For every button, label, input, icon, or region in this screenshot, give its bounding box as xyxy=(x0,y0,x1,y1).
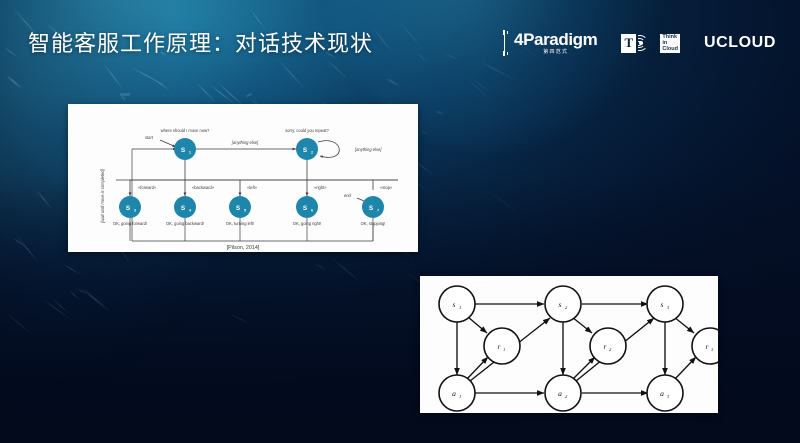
fsm-node-label-s2: S xyxy=(303,147,308,154)
tic-line-3: Cloud xyxy=(662,46,678,52)
slide-canvas: 智能客服工作原理：对话技术现状 4Paradigm 第四范式 T xyxy=(0,0,800,443)
fsm-node-s2[interactable]: S 2 xyxy=(296,138,318,160)
mdp-node-r2[interactable]: r 2 xyxy=(590,328,626,364)
mdp-node-label-r1: r xyxy=(498,342,501,351)
fsm-node-s3[interactable]: S 3 xyxy=(119,196,141,218)
fsm-node-sub-s2: 2 xyxy=(311,151,313,155)
fsm-edge-label-stop: «stop» xyxy=(380,185,393,190)
mdp-node-label-a1: a xyxy=(452,389,456,398)
fsm-node-s5[interactable]: S 5 xyxy=(229,196,251,218)
fsm-node-s7[interactable]: S 7 xyxy=(362,196,384,218)
fsm-start-arrow xyxy=(160,140,176,147)
mdp-node-sub-a1: 1 xyxy=(459,394,461,399)
fsm-caption: [Pilson, 2014] xyxy=(227,245,260,251)
fsm-diagram-panel: [wait until move is completed] start [an… xyxy=(68,104,418,252)
mdp-node-s3[interactable]: s 3 xyxy=(647,286,683,322)
mdp-node-label-a3: a xyxy=(660,389,664,398)
mdp-node-sub-r1: 1 xyxy=(503,347,505,352)
fsm-node-label-s3: S xyxy=(126,205,131,212)
fsm-node-sub-s3: 3 xyxy=(134,209,136,213)
fsm-edge-label-s1-s2: [anything else] xyxy=(231,140,259,145)
logo-bar: 4Paradigm 第四范式 T Think in Cloud UCLOUD xyxy=(503,30,776,56)
mdp-node-a1[interactable]: a 1 xyxy=(439,375,475,411)
fsm-node-label-s1: S xyxy=(181,147,186,154)
mdp-edge-s2-r2 xyxy=(572,317,592,333)
mdp-diagram-panel: s 1 s 2 s 3 r 1 r 2 xyxy=(420,276,718,413)
mdp-node-r3[interactable]: r 3 xyxy=(692,328,718,364)
fsm-node-s1[interactable]: S 1 xyxy=(174,138,196,160)
mdp-edge-a3-r3 xyxy=(675,357,696,379)
fsm-start-label: start xyxy=(145,135,154,140)
fsm-edge-s2-self xyxy=(318,141,339,158)
fsm-node-sub-s6: 6 xyxy=(311,209,313,213)
fsm-node-prompt-s2: sorry, could you repeat? xyxy=(285,128,329,133)
fsm-edge-label-s2-self: [anything else] xyxy=(354,147,382,152)
fsm-edge-label-backward: «backward» xyxy=(192,185,215,190)
tic-wordmark: Think in Cloud xyxy=(660,34,680,53)
mdp-node-label-r3: r xyxy=(706,342,709,351)
fsm-node-sub-s1: 1 xyxy=(189,151,191,155)
fsm-edge-label-right: «right» xyxy=(314,185,327,190)
mdp-node-s2[interactable]: s 2 xyxy=(545,286,581,322)
tic-logo: T Think in Cloud xyxy=(621,34,680,53)
fsm-node-label-s7: S xyxy=(369,205,374,212)
fsm-feedback-rail xyxy=(132,149,373,241)
mdp-edge-s3-r3 xyxy=(674,317,694,333)
fsm-node-label-s6: S xyxy=(303,205,308,212)
mdp-node-label-r2: r xyxy=(604,342,607,351)
fsm-edge-s1-s2 xyxy=(193,148,296,150)
fsm-node-label-s5: S xyxy=(236,205,241,212)
mdp-diagram-svg: s 1 s 2 s 3 r 1 r 2 xyxy=(420,276,718,413)
fsm-diagram-svg: [wait until move is completed] start [an… xyxy=(68,104,418,252)
fsm-node-prompt-s1: where should I move now? xyxy=(161,128,210,133)
fsm-edge-label-forward: «forward» xyxy=(138,185,157,190)
fsm-node-sub-s4: 4 xyxy=(189,209,191,213)
ucloud-logo: UCLOUD xyxy=(704,34,776,52)
tic-signal-icon xyxy=(638,34,658,53)
fsm-node-sub-s7: 7 xyxy=(377,209,379,213)
fsm-node-s4[interactable]: S 4 xyxy=(174,196,196,218)
fsm-side-label: [wait until move is completed] xyxy=(100,168,105,223)
mdp-node-r1[interactable]: r 1 xyxy=(484,328,520,364)
4paradigm-logo: 4Paradigm 第四范式 xyxy=(503,30,597,56)
mdp-node-s1[interactable]: s 1 xyxy=(439,286,475,322)
fsm-transition-bus xyxy=(116,160,398,196)
mdp-node-a3[interactable]: a 3 xyxy=(647,375,683,411)
mdp-node-label-s2: s xyxy=(559,300,562,309)
mdp-node-a2[interactable]: a 2 xyxy=(545,375,581,411)
4paradigm-name-cn: 第四范式 xyxy=(514,50,597,55)
4paradigm-name: 4Paradigm xyxy=(514,31,597,48)
page-title: 智能客服工作原理：对话技术现状 xyxy=(28,26,373,58)
mdp-node-sub-s1: 1 xyxy=(459,305,461,310)
tic-t-mark-icon: T xyxy=(621,34,636,53)
fsm-node-s6[interactable]: S 6 xyxy=(296,196,318,218)
mdp-node-label-s3: s xyxy=(661,300,664,309)
fsm-edge-label-left: «left» xyxy=(247,185,258,190)
mdp-edge-s1-r1 xyxy=(468,317,487,333)
fsm-node-sub-s5: 5 xyxy=(244,209,246,213)
fsm-node-label-s4: S xyxy=(181,205,186,212)
mdp-node-label-a2: a xyxy=(558,389,562,398)
mdp-node-label-s1: s xyxy=(453,300,456,309)
fsm-end-label: end xyxy=(344,193,352,198)
4paradigm-wordmark: 4Paradigm 第四范式 xyxy=(514,31,597,55)
4paradigm-mark-icon xyxy=(503,30,512,56)
